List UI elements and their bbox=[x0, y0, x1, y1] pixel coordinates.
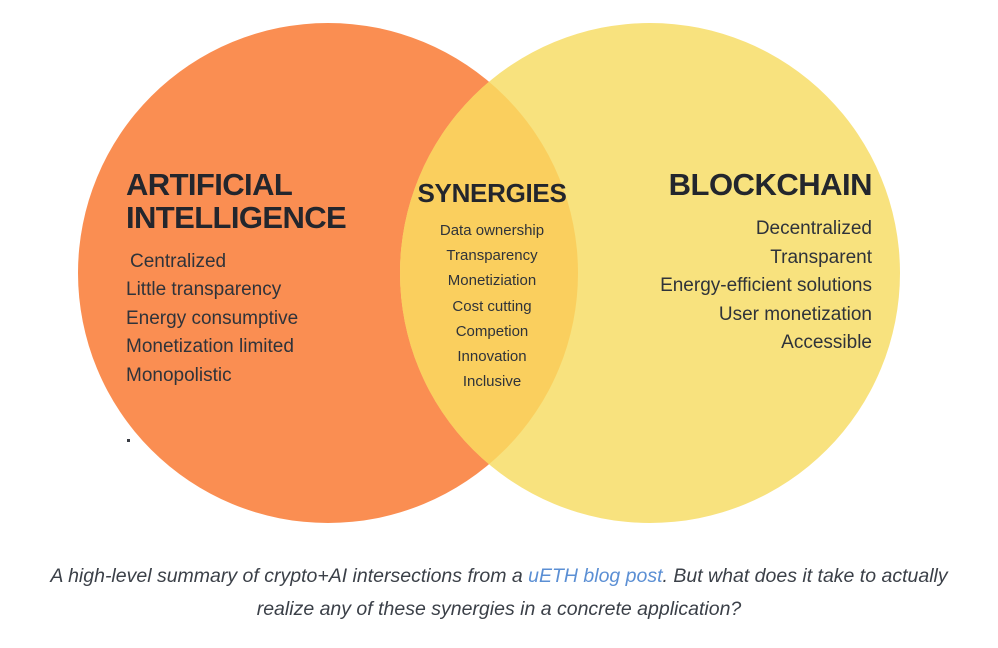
venn-heading-synergies: SYNERGIES bbox=[404, 179, 580, 207]
list-item: Innovation bbox=[404, 344, 580, 369]
list-item: Accessible bbox=[572, 329, 872, 358]
list-item: Inclusive bbox=[404, 369, 580, 394]
list-item: Competion bbox=[404, 319, 580, 344]
list-item: Cost cutting bbox=[404, 294, 580, 319]
list-item: Transparency bbox=[404, 243, 580, 268]
venn-group-synergies: SYNERGIES Data ownership Transparency Mo… bbox=[404, 179, 580, 395]
venn-list-blockchain: Decentralized Transparent Energy-efficie… bbox=[572, 215, 872, 358]
list-item: Monopolistic bbox=[126, 362, 426, 391]
venn-heading-artificial-intelligence: ARTIFICIAL INTELLIGENCE bbox=[126, 168, 426, 235]
venn-diagram: ARTIFICIAL INTELLIGENCE Centralized Litt… bbox=[0, 0, 998, 545]
list-item: Monetiziation bbox=[404, 268, 580, 293]
list-item: Little transparency bbox=[126, 276, 426, 305]
list-item: Monetization limited bbox=[126, 333, 426, 362]
list-item: Energy-efficient solutions bbox=[572, 272, 872, 301]
list-item: Energy consumptive bbox=[126, 305, 426, 334]
list-item: Centralized bbox=[126, 248, 426, 277]
venn-group-artificial-intelligence: ARTIFICIAL INTELLIGENCE Centralized Litt… bbox=[126, 168, 426, 390]
venn-group-blockchain: BLOCKCHAIN Decentralized Transparent Ene… bbox=[572, 168, 872, 358]
ueth-blog-post-link[interactable]: uETH blog post bbox=[528, 565, 662, 587]
list-item: Transparent bbox=[572, 244, 872, 273]
stray-speck bbox=[127, 439, 130, 442]
venn-list-synergies: Data ownership Transparency Monetiziatio… bbox=[404, 218, 580, 394]
figure-caption: A high-level summary of crypto+AI inters… bbox=[50, 560, 948, 626]
venn-heading-blockchain: BLOCKCHAIN bbox=[572, 168, 872, 201]
list-item: Data ownership bbox=[404, 218, 580, 243]
list-item: User monetization bbox=[572, 301, 872, 330]
caption-text-before-link: A high-level summary of crypto+AI inters… bbox=[50, 565, 528, 587]
venn-list-artificial-intelligence: Centralized Little transparency Energy c… bbox=[126, 248, 426, 391]
list-item: Decentralized bbox=[572, 215, 872, 244]
